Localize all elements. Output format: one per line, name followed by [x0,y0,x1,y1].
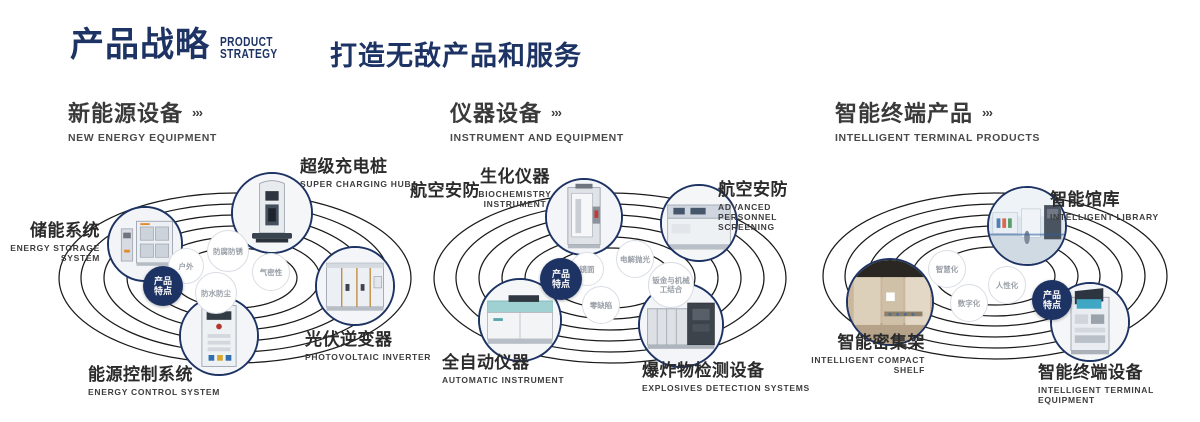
core-badge-line1: 产品 [154,276,172,286]
feature-bubble: 防腐防锈 [207,230,249,272]
label-super-charging-hub: 超级充电桩 SUPER CHARGING HUB [300,152,411,189]
section-heading-instrument: 仪器设备 ››› INSTRUMENT AND EQUIPMENT [450,96,624,144]
page-title-en: PRODUCT STRATEGY [220,36,278,60]
label-cn: 航空安防 [718,175,818,200]
label-energy-control-system: 能源控制系统 ENERGY CONTROL SYSTEM [88,360,220,397]
label-biochemistry-instrument: 生化仪器 BIOCHEMISTRY INSTRUMENT [470,162,560,209]
label-explosives-detection-systems: 爆炸物检测设备 EXPLOSIVES DETECTION SYSTEMS [642,356,810,393]
label-cn: 全自动仪器 [442,348,564,373]
chevron-right-icon: ››› [551,106,561,119]
section-heading-cn: 仪器设备 ››› [450,96,624,128]
feature-bubble: 智慧化 [928,250,966,288]
feature-bubble: 数字化 [950,284,988,322]
feature-bubble: 气密性 [252,253,290,291]
chevron-right-icon: ››› [982,106,992,119]
feature-bubble-label: 防水防尘 [201,289,231,298]
label-cn: 智能馆库 [1050,185,1159,210]
label-cn: 光伏逆变器 [305,325,431,350]
chevron-right-icon: ››› [192,106,202,119]
feature-bubble: 钣金与机械工结合 [648,262,694,308]
page-title-en-line2: STRATEGY [220,48,278,60]
section-heading-cn: 智能终端产品 ››› [835,96,1040,128]
label-cn: 能源控制系统 [88,360,220,385]
core-badge-line2: 特点 [154,286,172,296]
feature-bubble: 零缺陷 [582,286,620,324]
page-title: 产品战略 PRODUCT STRATEGY [70,28,294,62]
label-en: SUPER CHARGING HUB [300,179,411,189]
core-badge-line1: 产品 [1043,290,1061,300]
label-cn: 储能系统 [0,216,100,241]
feature-bubble-label: 电解抛光 [620,255,650,264]
label-en: EXPLOSIVES DETECTION SYSTEMS [642,383,810,393]
section-heading-new-energy: 新能源设备 ››› NEW ENERGY EQUIPMENT [68,96,217,144]
section-heading-label: 仪器设备 [450,96,542,128]
section-heading-en: INTELLIGENT TERMINAL PRODUCTS [835,132,1040,144]
label-cn: 智能密集架 [805,328,925,353]
section-heading-label: 智能终端产品 [835,96,973,128]
label-advanced-personnel-screening: 航空安防 ADVANCED PERSONNEL SCREENING [718,175,818,232]
label-intelligent-library: 智能馆库 INTELLIGENT LIBRARY [1050,185,1159,222]
label-cn: 爆炸物检测设备 [642,356,810,381]
label-photovoltaic-inverter: 光伏逆变器 PHOTOVOLTAIC INVERTER [305,325,431,362]
label-en: INTELLIGENT COMPACT SHELF [805,355,925,375]
label-en: INTELLIGENT TERMINAL EQUIPMENT [1038,385,1200,405]
core-badge-line2: 特点 [1043,300,1061,310]
node-photovoltaic-inverter[interactable] [315,246,395,326]
section-heading-cn: 新能源设备 ››› [68,96,217,128]
core-badge-product-features: 产品 特点 [143,266,183,306]
section-heading-en: INSTRUMENT AND EQUIPMENT [450,132,624,144]
label-cn: 智能终端设备 [1038,358,1200,383]
label-en: INTELLIGENT LIBRARY [1050,212,1159,222]
feature-bubble: 电解抛光 [616,240,654,278]
label-en: PHOTOVOLTAIC INVERTER [305,352,431,362]
pv-inverter-cabinet-icon [317,248,393,324]
core-badge-line2: 特点 [552,279,570,289]
label-en: ADVANCED PERSONNEL SCREENING [718,202,818,232]
page-title-cn: 产品战略 [70,28,210,62]
label-en: BIOCHEMISTRY INSTRUMENT [470,189,560,209]
product-strategy-infographic: 产品战略 PRODUCT STRATEGY 打造无敌产品和服务 新能源设备 ››… [0,0,1200,422]
feature-bubble: 人性化 [988,266,1026,304]
label-en: ENERGY STORAGE SYSTEM [0,243,100,263]
page-subtitle: 打造无敌产品和服务 [330,34,582,73]
label-intelligent-compact-shelf: 智能密集架 INTELLIGENT COMPACT SHELF [805,328,925,375]
label-en: ENERGY CONTROL SYSTEM [88,387,220,397]
label-cn: 超级充电桩 [300,152,411,177]
feature-bubble: 防水防尘 [195,272,237,314]
label-intelligent-terminal-equipment: 智能终端设备 INTELLIGENT TERMINAL EQUIPMENT [1038,358,1200,405]
core-badge-line1: 产品 [552,269,570,279]
feature-bubble-label: 防腐防锈 [213,247,243,256]
label-cn: 生化仪器 [470,162,560,187]
section-heading-intelligent: 智能终端产品 ››› INTELLIGENT TERMINAL PRODUCTS [835,96,1040,144]
label-automatic-instrument: 全自动仪器 AUTOMATIC INSTRUMENT [442,348,564,385]
label-energy-storage-system: 储能系统 ENERGY STORAGE SYSTEM [0,216,100,263]
feature-bubble-label: 钣金与机械工结合 [649,276,693,294]
section-heading-label: 新能源设备 [68,96,183,128]
label-en: AUTOMATIC INSTRUMENT [442,375,564,385]
core-badge-product-features: 产品 特点 [1032,280,1072,320]
core-badge-product-features: 产品 特点 [540,258,582,300]
section-heading-en: NEW ENERGY EQUIPMENT [68,132,217,144]
